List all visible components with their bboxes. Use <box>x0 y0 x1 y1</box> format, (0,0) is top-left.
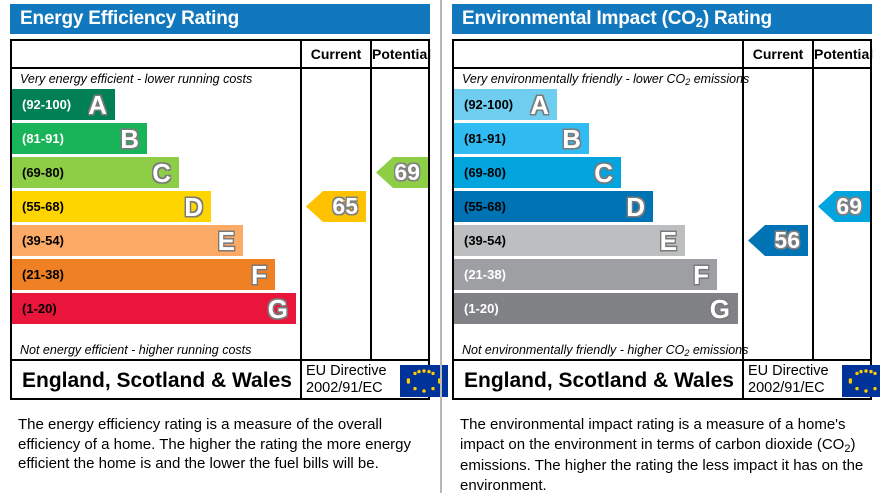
column-header-row: Current Potential <box>454 41 870 69</box>
band-d: (55-68) D <box>454 191 653 222</box>
column-divider-1 <box>300 41 302 361</box>
column-divider-2 <box>812 41 814 361</box>
caption-top-text: Very environmentally friendly - lower CO <box>462 72 685 86</box>
caption-top: Very energy efficient - lower running co… <box>20 71 298 88</box>
column-divider-2 <box>370 41 372 361</box>
band-f-letter: F <box>251 262 267 288</box>
environmental-impact-grid: Current Potential Very environmentally f… <box>452 39 872 400</box>
band-g-range: (1-20) <box>464 293 499 324</box>
band-a-range: (92-100) <box>22 89 71 120</box>
caption-top: Very environmentally friendly - lower CO… <box>462 71 740 88</box>
band-a-letter: A <box>530 92 549 118</box>
footer-country: England, Scotland & Wales <box>22 361 292 400</box>
band-e: (39-54) E <box>12 225 243 256</box>
eu-directive-line1: EU Directive <box>306 363 396 380</box>
caption-top-suffix: emissions <box>690 72 749 86</box>
band-g-letter: G <box>710 296 730 322</box>
epc-rating-graphs: Energy Efficiency Rating Current Potenti… <box>0 0 880 493</box>
band-g-range: (1-20) <box>22 293 57 324</box>
potential-rating-value: 69 <box>836 195 862 218</box>
header-current: Current <box>302 41 370 67</box>
description-before: The environmental impact rating is a mea… <box>460 416 846 453</box>
eu-directive-line1: EU Directive <box>748 363 838 380</box>
band-b-range: (81-91) <box>464 123 506 154</box>
environmental-impact-title: Environmental Impact (CO2) Rating <box>452 4 872 34</box>
band-e-range: (39-54) <box>464 225 506 256</box>
current-rating-value: 65 <box>332 195 358 218</box>
column-divider-1 <box>742 41 744 361</box>
footer-country: England, Scotland & Wales <box>464 361 734 400</box>
band-c: (69-80) C <box>12 157 179 188</box>
title-suffix: ) Rating <box>703 8 772 29</box>
caption-bottom-text: Not environmentally friendly - higher CO <box>462 343 684 357</box>
band-e-range: (39-54) <box>22 225 64 256</box>
caption-top-subscript: 2 <box>685 77 690 87</box>
eu-directive-line2: 2002/91/EC <box>306 380 396 397</box>
header-current: Current <box>744 41 812 67</box>
title-text: Energy Efficiency Rating <box>20 8 239 29</box>
band-d: (55-68) D <box>12 191 211 222</box>
description-text: The energy efficiency rating is a measur… <box>18 416 411 472</box>
band-f-range: (21-38) <box>464 259 506 290</box>
band-b-letter: B <box>120 126 139 152</box>
current-rating-arrow: 65 <box>306 191 366 222</box>
environmental-impact-description: The environmental impact rating is a mea… <box>460 415 870 493</box>
current-rating-value: 56 <box>774 229 800 252</box>
footer-column-divider <box>300 361 302 400</box>
band-b-range: (81-91) <box>22 123 64 154</box>
eu-flag-icon <box>842 365 880 397</box>
eu-directive-text: EU Directive 2002/91/EC <box>306 363 396 397</box>
band-c-letter: C <box>594 160 613 186</box>
band-g: (1-20) G <box>12 293 296 324</box>
band-c: (69-80) C <box>454 157 621 188</box>
energy-efficiency-title: Energy Efficiency Rating <box>10 4 430 34</box>
energy-efficiency-grid: Current Potential Very energy efficient … <box>10 39 430 400</box>
band-f-range: (21-38) <box>22 259 64 290</box>
band-d-letter: D <box>184 194 203 220</box>
band-a-range: (92-100) <box>464 89 513 120</box>
band-b: (81-91) B <box>12 123 147 154</box>
band-e: (39-54) E <box>454 225 685 256</box>
footer-row: England, Scotland & Wales EU Directive 2… <box>454 361 870 400</box>
band-d-range: (55-68) <box>22 191 64 222</box>
caption-bottom-subscript: 2 <box>684 348 689 358</box>
energy-efficiency-description: The energy efficiency rating is a measur… <box>18 415 428 474</box>
band-a: (92-100) A <box>12 89 115 120</box>
title-subscript: 2 <box>696 15 703 30</box>
eu-directive-line2: 2002/91/EC <box>748 380 838 397</box>
footer-column-divider <box>742 361 744 400</box>
description-subscript: 2 <box>844 443 850 455</box>
band-f: (21-38) F <box>12 259 275 290</box>
caption-bottom: Not energy efficient - higher running co… <box>20 342 298 359</box>
header-potential: Potential <box>372 41 430 67</box>
caption-bottom-suffix: emissions <box>689 343 748 357</box>
energy-efficiency-panel: Energy Efficiency Rating Current Potenti… <box>0 0 440 493</box>
band-c-range: (69-80) <box>464 157 506 188</box>
band-f: (21-38) F <box>454 259 717 290</box>
band-a-letter: A <box>88 92 107 118</box>
band-g: (1-20) G <box>454 293 738 324</box>
band-c-letter: C <box>152 160 171 186</box>
potential-rating-arrow: 69 <box>376 157 428 188</box>
eu-directive-text: EU Directive 2002/91/EC <box>748 363 838 397</box>
title-text: Environmental Impact (CO <box>462 8 696 29</box>
footer-row: England, Scotland & Wales EU Directive 2… <box>12 361 428 400</box>
potential-rating-value: 69 <box>394 161 420 184</box>
header-potential: Potential <box>814 41 872 67</box>
band-a: (92-100) A <box>454 89 557 120</box>
band-d-letter: D <box>626 194 645 220</box>
band-d-range: (55-68) <box>464 191 506 222</box>
band-e-letter: E <box>660 228 677 254</box>
band-f-letter: F <box>693 262 709 288</box>
band-e-letter: E <box>218 228 235 254</box>
column-header-row: Current Potential <box>12 41 428 69</box>
band-b-letter: B <box>562 126 581 152</box>
current-rating-arrow: 56 <box>748 225 808 256</box>
caption-bottom: Not environmentally friendly - higher CO… <box>462 342 740 359</box>
band-g-letter: G <box>268 296 288 322</box>
environmental-impact-panel: Environmental Impact (CO2) Rating Curren… <box>440 0 880 493</box>
band-b: (81-91) B <box>454 123 589 154</box>
band-c-range: (69-80) <box>22 157 64 188</box>
potential-rating-arrow: 69 <box>818 191 870 222</box>
